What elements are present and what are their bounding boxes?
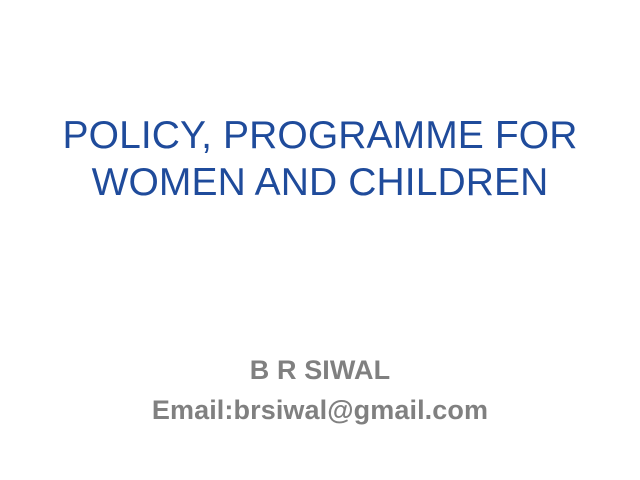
title-slide: POLICY, PROGRAMME FOR WOMEN AND CHILDREN… (0, 0, 640, 480)
title-line-2: WOMEN AND CHILDREN (0, 159, 640, 206)
slide-title: POLICY, PROGRAMME FOR WOMEN AND CHILDREN (0, 112, 640, 206)
title-line-1: POLICY, PROGRAMME FOR (0, 112, 640, 159)
slide-subtitle: B R SIWAL Email:brsiwal@gmail.com (0, 350, 640, 430)
author-name: B R SIWAL (0, 350, 640, 390)
author-email: Email:brsiwal@gmail.com (0, 390, 640, 430)
